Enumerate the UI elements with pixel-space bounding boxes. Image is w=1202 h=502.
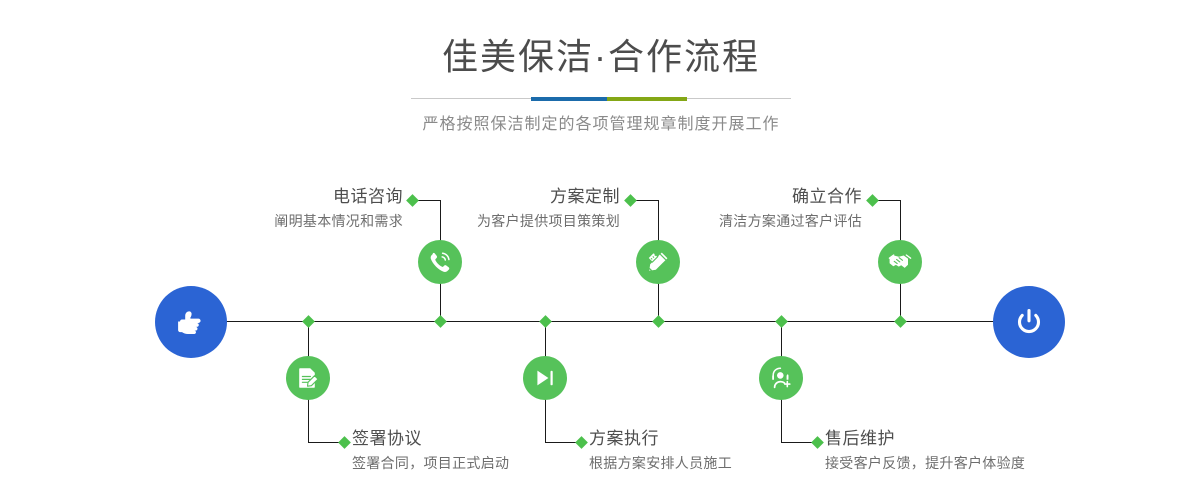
step-3-axis-node xyxy=(652,315,665,328)
step-5-labels: 确立合作 清洁方案通过客户评估 xyxy=(690,186,862,231)
cooperation-flow-infographic: 佳美保洁·合作流程 严格按照保洁制定的各项管理规章制度开展工作 xyxy=(0,0,1202,502)
step-6-subtitle: 接受客户反馈，提升客户体验度 xyxy=(825,453,1025,473)
step-6-axis-node xyxy=(775,315,788,328)
step-6-labels: 售后维护 接受客户反馈，提升客户体验度 xyxy=(825,428,1025,473)
step-1-axis-node xyxy=(434,315,447,328)
step-1-title: 电话咨询 xyxy=(188,186,403,208)
step-1-subtitle: 阐明基本情况和需求 xyxy=(188,211,403,231)
flow-start-endpoint xyxy=(155,286,227,358)
document-edit-icon[interactable] xyxy=(286,356,330,400)
step-2-axis-node xyxy=(302,315,315,328)
customer-service-icon[interactable] xyxy=(759,356,803,400)
step-4-labels: 方案执行 根据方案安排人员施工 xyxy=(589,428,732,473)
step-2-subtitle: 签署合同，项目正式启动 xyxy=(352,453,509,473)
step-1-labels: 电话咨询 阐明基本情况和需求 xyxy=(188,186,403,231)
flow-diagram: 电话咨询 阐明基本情况和需求 签署协议 签署合同，项目正式启动 xyxy=(0,0,1202,502)
step-6-label-marker xyxy=(811,436,824,449)
step-3-title: 方案定制 xyxy=(440,186,620,208)
step-4-label-marker xyxy=(575,436,588,449)
step-2-title: 签署协议 xyxy=(352,428,509,450)
pointing-hand-icon xyxy=(171,302,211,342)
step-2-labels: 签署协议 签署合同，项目正式启动 xyxy=(352,428,509,473)
step-3-labels: 方案定制 为客户提供项目策策划 xyxy=(440,186,620,231)
step-5-title: 确立合作 xyxy=(690,186,862,208)
step-1-label-marker xyxy=(406,194,419,207)
step-5-label-marker xyxy=(866,194,879,207)
step-4-title: 方案执行 xyxy=(589,428,732,450)
flow-end-endpoint xyxy=(993,286,1065,358)
step-4-axis-node xyxy=(539,315,552,328)
phone-call-icon[interactable] xyxy=(418,240,462,284)
step-3-label-marker xyxy=(624,194,637,207)
play-execute-icon[interactable] xyxy=(523,356,567,400)
pencil-ruler-icon[interactable] xyxy=(636,240,680,284)
handshake-icon[interactable] xyxy=(878,240,922,284)
step-5-axis-node xyxy=(894,315,907,328)
step-5-subtitle: 清洁方案通过客户评估 xyxy=(690,211,862,231)
step-6-title: 售后维护 xyxy=(825,428,1025,450)
step-2-label-marker xyxy=(338,436,351,449)
step-4-subtitle: 根据方案安排人员施工 xyxy=(589,453,732,473)
power-icon xyxy=(1009,302,1049,342)
step-3-subtitle: 为客户提供项目策策划 xyxy=(440,211,620,231)
